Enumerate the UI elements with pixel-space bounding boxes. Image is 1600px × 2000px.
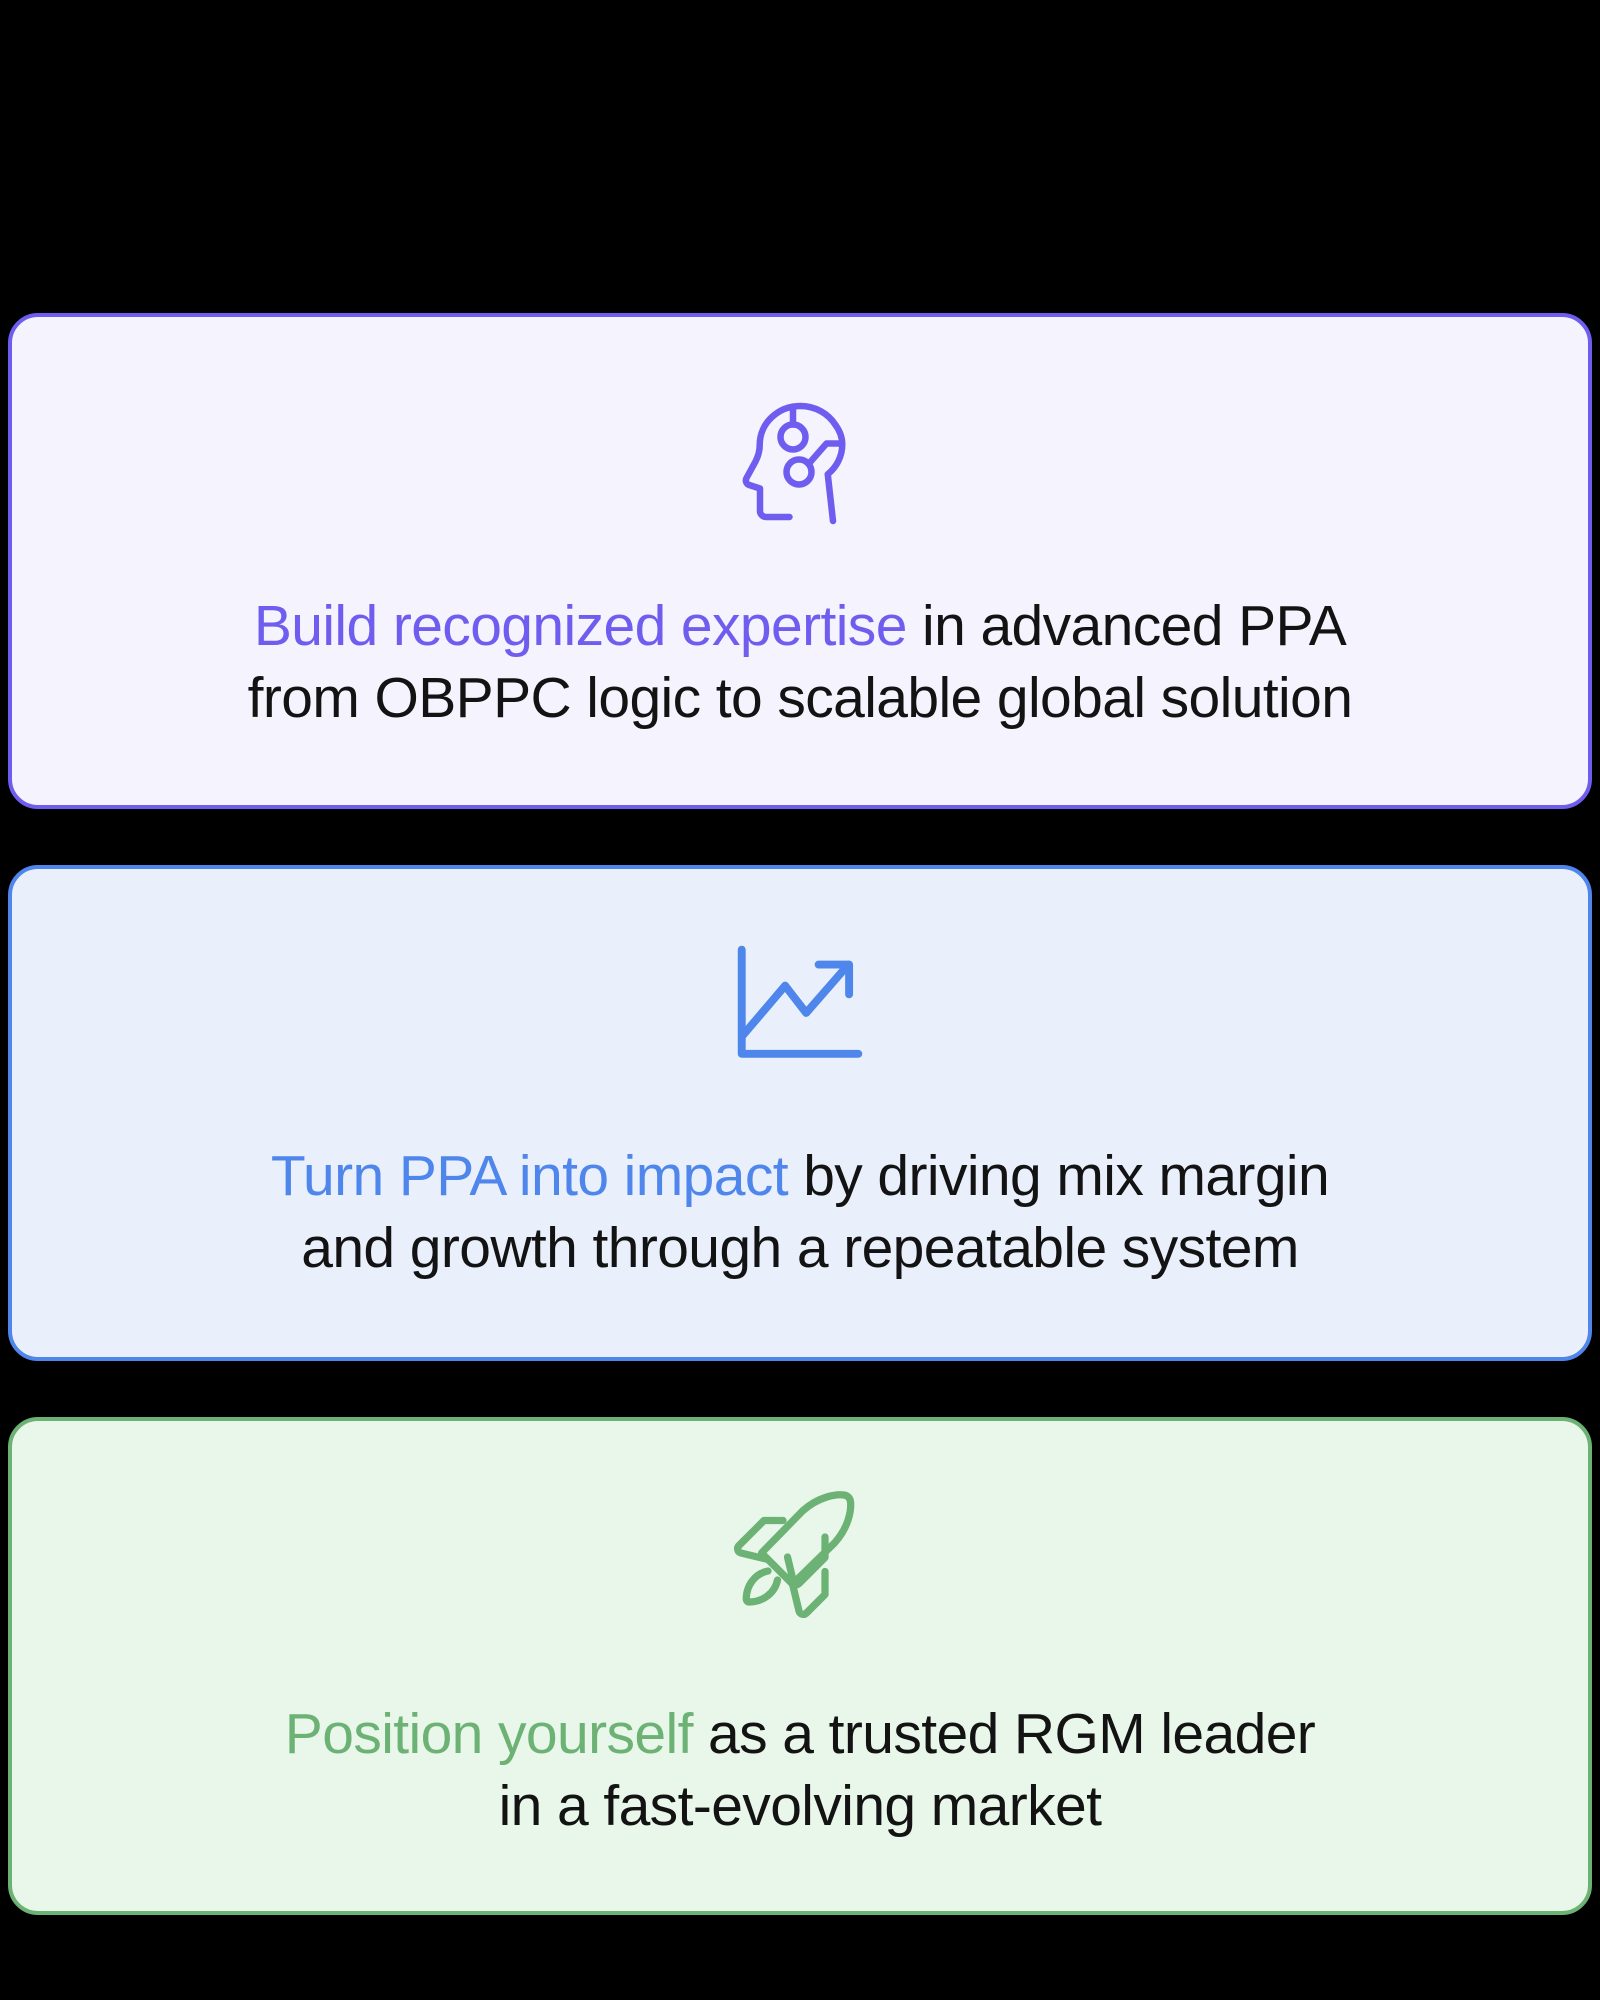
cards-container: Build recognized expertise in advanced P… <box>8 313 1592 1915</box>
card-expertise-accent: Build recognized expertise <box>254 594 907 658</box>
ai-head-icon <box>725 387 875 537</box>
card-position-text: Position yourself as a trusted RGM leade… <box>285 1699 1315 1843</box>
card-expertise-line1-rest: in advanced PPA <box>907 594 1346 658</box>
card-position-accent: Position yourself <box>285 1702 693 1766</box>
card-position-line1-rest: as a trusted RGM leader <box>693 1702 1315 1766</box>
card-expertise-text: Build recognized expertise in advanced P… <box>248 591 1353 735</box>
card-impact-line2: and growth through a repeatable system <box>271 1213 1329 1285</box>
card-position-line2: in a fast-evolving market <box>285 1771 1315 1843</box>
card-impact-line1-rest: by driving mix margin <box>788 1144 1329 1208</box>
card-expertise[interactable]: Build recognized expertise in advanced P… <box>8 313 1592 809</box>
card-position[interactable]: Position yourself as a trusted RGM leade… <box>8 1417 1592 1915</box>
rocket-icon <box>730 1489 870 1629</box>
card-impact-text: Turn PPA into impact by driving mix marg… <box>271 1141 1329 1285</box>
benefits-cards-panel: Build recognized expertise in advanced P… <box>0 0 1600 2000</box>
trending-up-chart-icon <box>730 941 870 1065</box>
card-impact[interactable]: Turn PPA into impact by driving mix marg… <box>8 865 1592 1361</box>
card-expertise-line2: from OBPPC logic to scalable global solu… <box>248 663 1353 735</box>
card-impact-accent: Turn PPA into impact <box>271 1144 788 1208</box>
